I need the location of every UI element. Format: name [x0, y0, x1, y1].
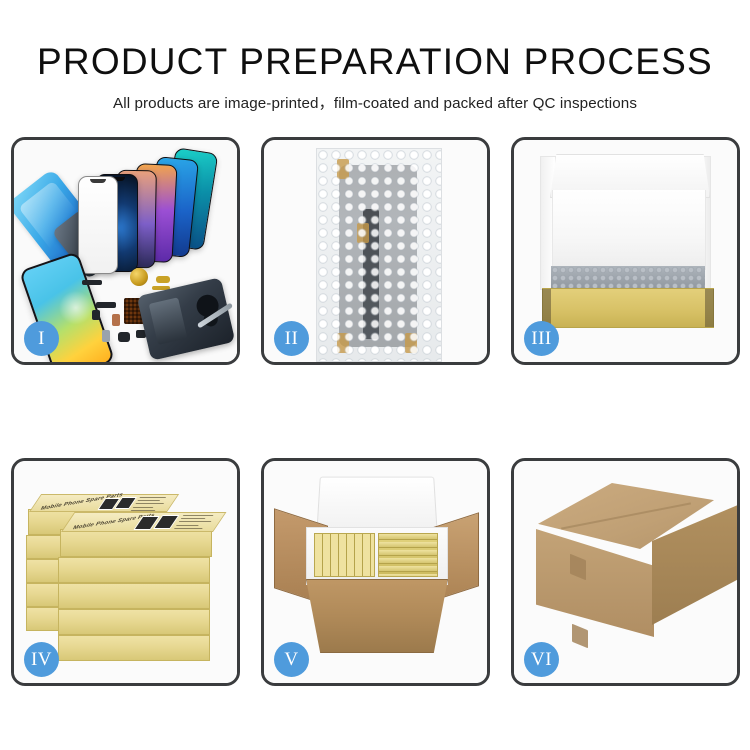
process-panel-5[interactable]: V	[261, 458, 490, 686]
grey-bubble-wrap	[551, 266, 705, 290]
phone-display-fan	[92, 148, 232, 272]
panel-number-badge: IV	[24, 642, 59, 677]
panel-number-badge: I	[24, 321, 59, 356]
carton-front-panel	[306, 579, 448, 653]
panel-number-badge: II	[274, 321, 309, 356]
page-header: PRODUCT PREPARATION PROCESS All products…	[0, 0, 750, 114]
white-foam-liner	[552, 190, 706, 270]
panel-number-badge: III	[524, 321, 559, 356]
carton-tape-lower	[572, 624, 588, 648]
process-panel-2[interactable]: II	[261, 137, 490, 365]
box-stack: Mobile Phone Spare Parts	[22, 479, 228, 667]
panel-number-badge: VI	[524, 642, 559, 677]
yellow-boxes-inside	[314, 533, 438, 577]
page-subtitle: All products are image-printed，film-coat…	[0, 84, 750, 114]
process-panel-6[interactable]: VI	[511, 458, 740, 686]
bubble-wrap-bag	[316, 148, 442, 362]
page-title: PRODUCT PREPARATION PROCESS	[0, 0, 750, 84]
process-panel-4[interactable]: Mobile Phone Spare Parts	[11, 458, 240, 686]
process-panel-1[interactable]: I	[11, 137, 240, 365]
process-panel-grid: I II III	[11, 137, 740, 677]
yellow-box-front	[542, 288, 714, 328]
process-panel-3[interactable]: III	[511, 137, 740, 365]
panel-number-badge: V	[274, 642, 309, 677]
